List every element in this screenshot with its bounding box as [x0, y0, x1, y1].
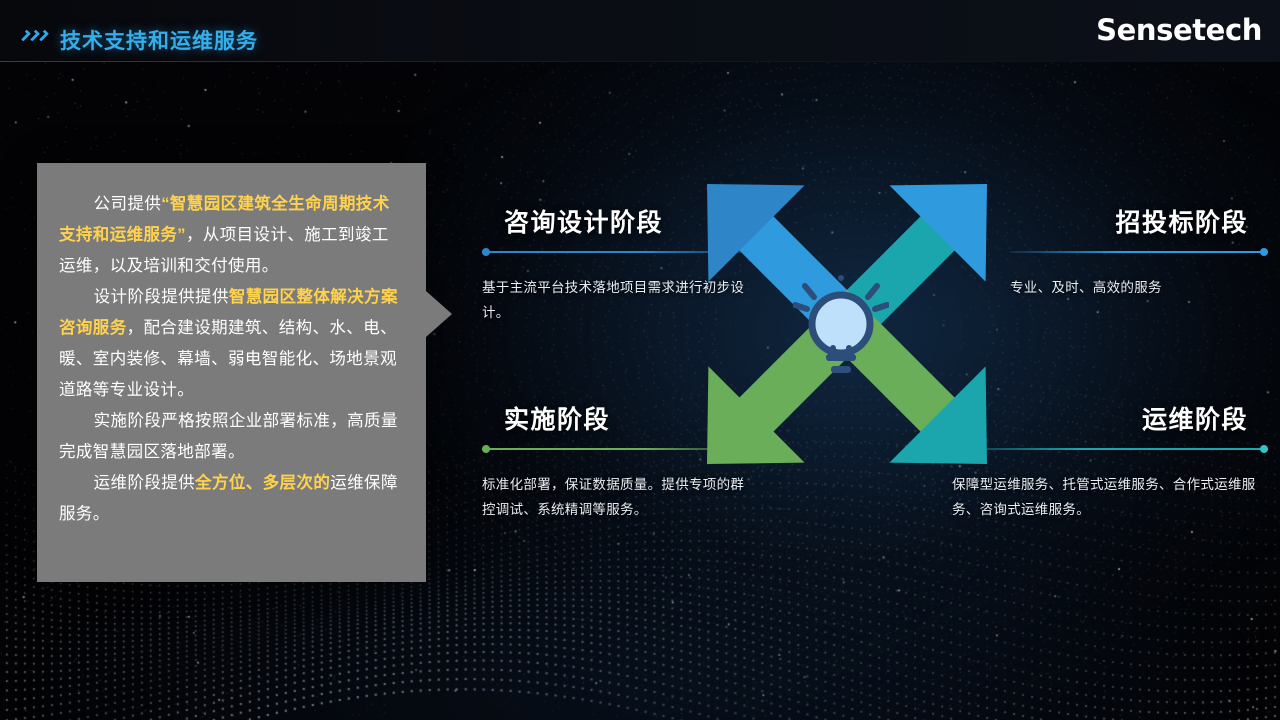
- body-text: 公司提供: [94, 195, 162, 213]
- body-text: 运维阶段提供: [94, 474, 195, 492]
- description-paragraph: 公司提供“智慧园区建筑全生命周期技术支持和运维服务”，从项目设计、施工到竣工运维…: [59, 189, 404, 282]
- quadrant-implementation: 实施阶段 标准化部署，保证数据质量。提供专项的群控调试、系统精调等服务。: [482, 400, 752, 522]
- description-paragraph: 设计阶段提供提供智慧园区整体解决方案咨询服务，配合建设期建筑、结构、水、电、暖、…: [59, 282, 404, 406]
- quadrant-title: 运维阶段: [952, 400, 1268, 436]
- page-title: 技术支持和运维服务: [60, 25, 258, 55]
- description-paragraph: 实施阶段严格按照企业部署标准，高质量完成智慧园区落地部署。: [59, 406, 404, 468]
- quadrant-rule: [482, 251, 752, 253]
- lightbulb-icon: [793, 272, 889, 380]
- chevrons-right-icon: [22, 30, 46, 41]
- panel-pointer-arrow: [426, 291, 452, 337]
- description-paragraph: 运维阶段提供全方位、多层次的运维保障服务。: [59, 468, 404, 530]
- quadrant-description: 保障型运维服务、托管式运维服务、合作式运维服务、咨询式运维服务。: [952, 472, 1268, 522]
- quadrant-description: 专业、及时、高效的服务: [1010, 275, 1268, 300]
- description-panel-text: 公司提供“智慧园区建筑全生命周期技术支持和运维服务”，从项目设计、施工到竣工运维…: [37, 163, 426, 530]
- body-text: 实施阶段严格按照企业部署标准，高质量完成智慧园区落地部署。: [59, 412, 398, 461]
- body-text: 设计阶段提供提供: [94, 288, 229, 306]
- quadrant-rule: [482, 448, 752, 450]
- brand-logo: Sensetech: [1096, 13, 1262, 47]
- quadrant-description: 标准化部署，保证数据质量。提供专项的群控调试、系统精调等服务。: [482, 472, 752, 522]
- quadrant-bidding: 招投标阶段 专业、及时、高效的服务: [1010, 203, 1268, 300]
- quadrant-description: 基于主流平台技术落地项目需求进行初步设计。: [482, 275, 752, 325]
- description-panel: 公司提供“智慧园区建筑全生命周期技术支持和运维服务”，从项目设计、施工到竣工运维…: [37, 163, 426, 582]
- quadrant-title: 实施阶段: [482, 400, 752, 436]
- highlighted-text: 全方位、多层次的: [195, 474, 330, 492]
- quadrant-consulting-design: 咨询设计阶段 基于主流平台技术落地项目需求进行初步设计。: [482, 203, 752, 325]
- quadrant-operations: 运维阶段 保障型运维服务、托管式运维服务、合作式运维服务、咨询式运维服务。: [952, 400, 1268, 522]
- quadrant-rule: [952, 448, 1268, 450]
- quadrant-rule: [1010, 251, 1268, 253]
- quadrant-title: 招投标阶段: [1010, 203, 1268, 239]
- header-divider: [0, 61, 1280, 62]
- quadrant-title: 咨询设计阶段: [482, 203, 752, 239]
